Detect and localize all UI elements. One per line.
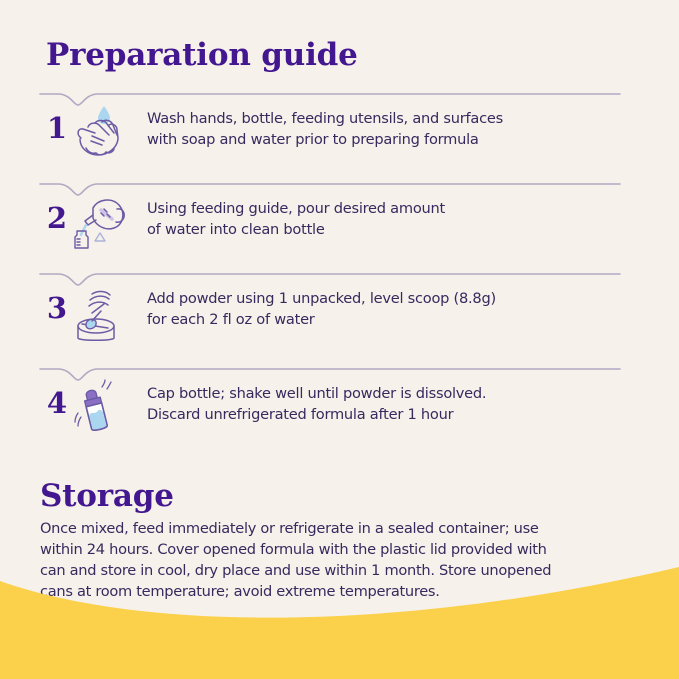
step-row-4: 4 Cap bottle; shake well until [40, 367, 640, 457]
storage-body-text: Once mixed, feed immediately or refriger… [40, 518, 625, 602]
step-text-2: Using feeding guide, pour desired amount… [147, 199, 637, 240]
storage-line-3: can and store in cool, dry place and use… [40, 560, 625, 581]
step-row-2: 2 Using feeding guide, pour desire [40, 182, 640, 272]
step-text-2-line1: Using feeding guide, pour desired amount [147, 200, 445, 217]
storage-line-1: Once mixed, feed immediately or refriger… [40, 518, 625, 539]
step-text-3: Add powder using 1 unpacked, level scoop… [147, 289, 637, 330]
step-text-1-line1: Wash hands, bottle, feeding utensils, an… [147, 110, 503, 127]
shaking-bottle-icon [68, 377, 130, 439]
preparation-guide-title: Preparation guide [46, 38, 358, 72]
storage-title: Storage [40, 479, 174, 513]
pouring-water-into-bottle-icon [68, 192, 130, 254]
washing-hands-icon [68, 102, 130, 164]
storage-line-4: cans at room temperature; avoid extreme … [40, 581, 625, 602]
step-text-4-line2: Discard unrefrigerated formula after 1 h… [147, 405, 637, 426]
step-text-3-line1: Add powder using 1 unpacked, level scoop… [147, 290, 496, 307]
step-text-1-line2: with soap and water prior to preparing f… [147, 130, 637, 151]
step-text-3-line2: for each 2 fl oz of water [147, 310, 637, 331]
step-row-3: 3 Add powder using 1 unpacked, level sco… [40, 272, 640, 362]
preparation-guide-page: Preparation guide 1 [0, 0, 679, 679]
step-text-4-line1: Cap bottle; shake well until powder is d… [147, 385, 486, 402]
step-text-2-line2: of water into clean bottle [147, 220, 637, 241]
level-scoop-over-can-icon [68, 282, 130, 344]
step-text-4: Cap bottle; shake well until powder is d… [147, 384, 637, 425]
step-text-1: Wash hands, bottle, feeding utensils, an… [147, 109, 637, 150]
storage-line-2: within 24 hours. Cover opened formula wi… [40, 539, 625, 560]
step-row-1: 1 Wash hands, bot [40, 92, 640, 182]
